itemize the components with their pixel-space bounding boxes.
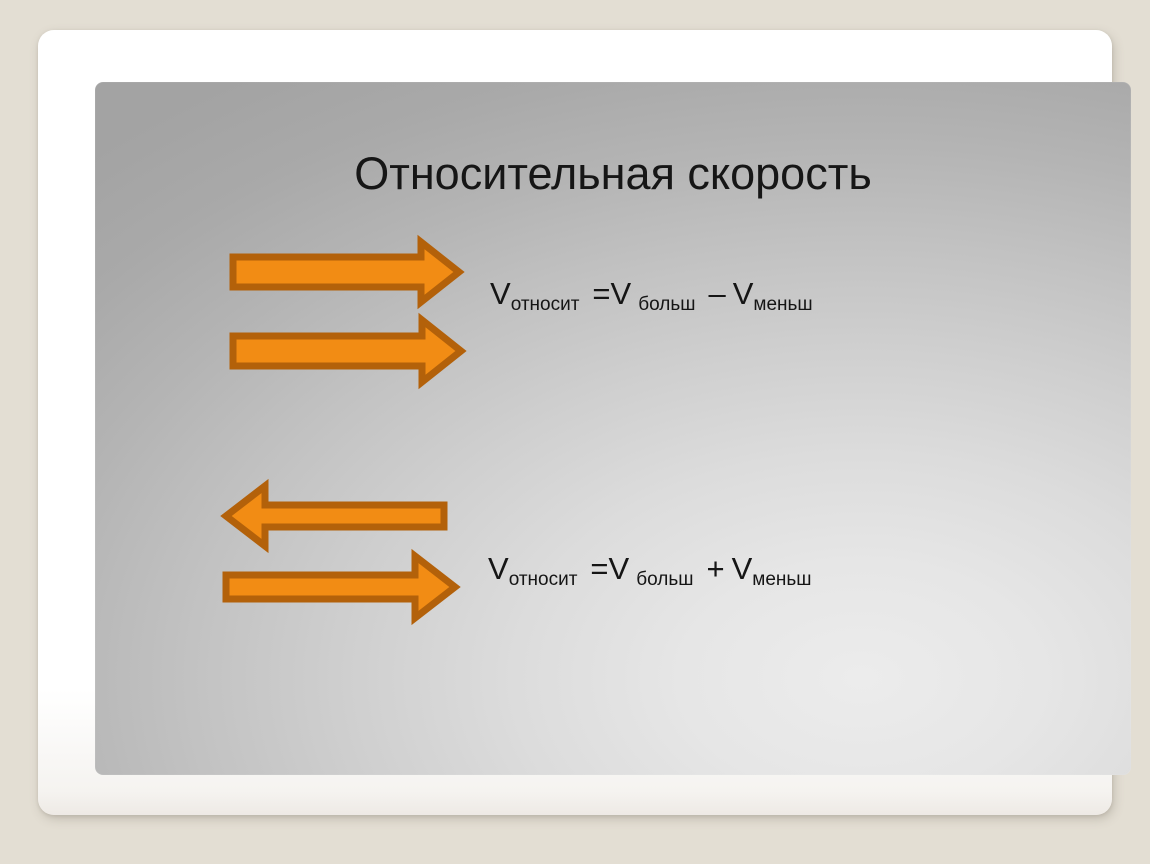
formula-diff-operator: – — [708, 276, 725, 311]
arrow-right-top-2 — [226, 316, 468, 386]
arrow-right-top-1 — [226, 238, 466, 306]
formula-diff-equals: =V — [592, 276, 631, 311]
formula-relative-speed-difference: Vотносит=Vбольш–Vменьш — [490, 278, 813, 309]
slide-canvas: Относительная скорость — [95, 82, 1131, 775]
formula-sum-base2: V — [732, 551, 753, 586]
formula-diff-sub2: больш — [638, 294, 695, 315]
formula-sum-sub2: больш — [636, 569, 693, 590]
formula-sum-sub3: меньш — [752, 569, 811, 590]
formula-sum-base1: V — [488, 551, 509, 586]
formula-diff-base2: V — [733, 276, 754, 311]
arrow-left-bottom-1 — [219, 480, 451, 552]
formula-sum-sub1: относит — [509, 569, 578, 590]
page-title: Относительная скорость — [95, 151, 1131, 196]
arrow-right-bottom-2 — [219, 551, 463, 623]
slide-root: Относительная скорость — [0, 0, 1150, 864]
formula-relative-speed-sum: Vотносит=Vбольш+Vменьш — [488, 553, 812, 584]
formula-sum-equals: =V — [590, 551, 629, 586]
slide-card: Относительная скорость — [38, 30, 1112, 815]
formula-diff-sub3: меньш — [753, 294, 812, 315]
formula-diff-base1: V — [490, 276, 511, 311]
formula-diff-sub1: относит — [511, 294, 580, 315]
formula-sum-operator: + — [706, 551, 724, 586]
